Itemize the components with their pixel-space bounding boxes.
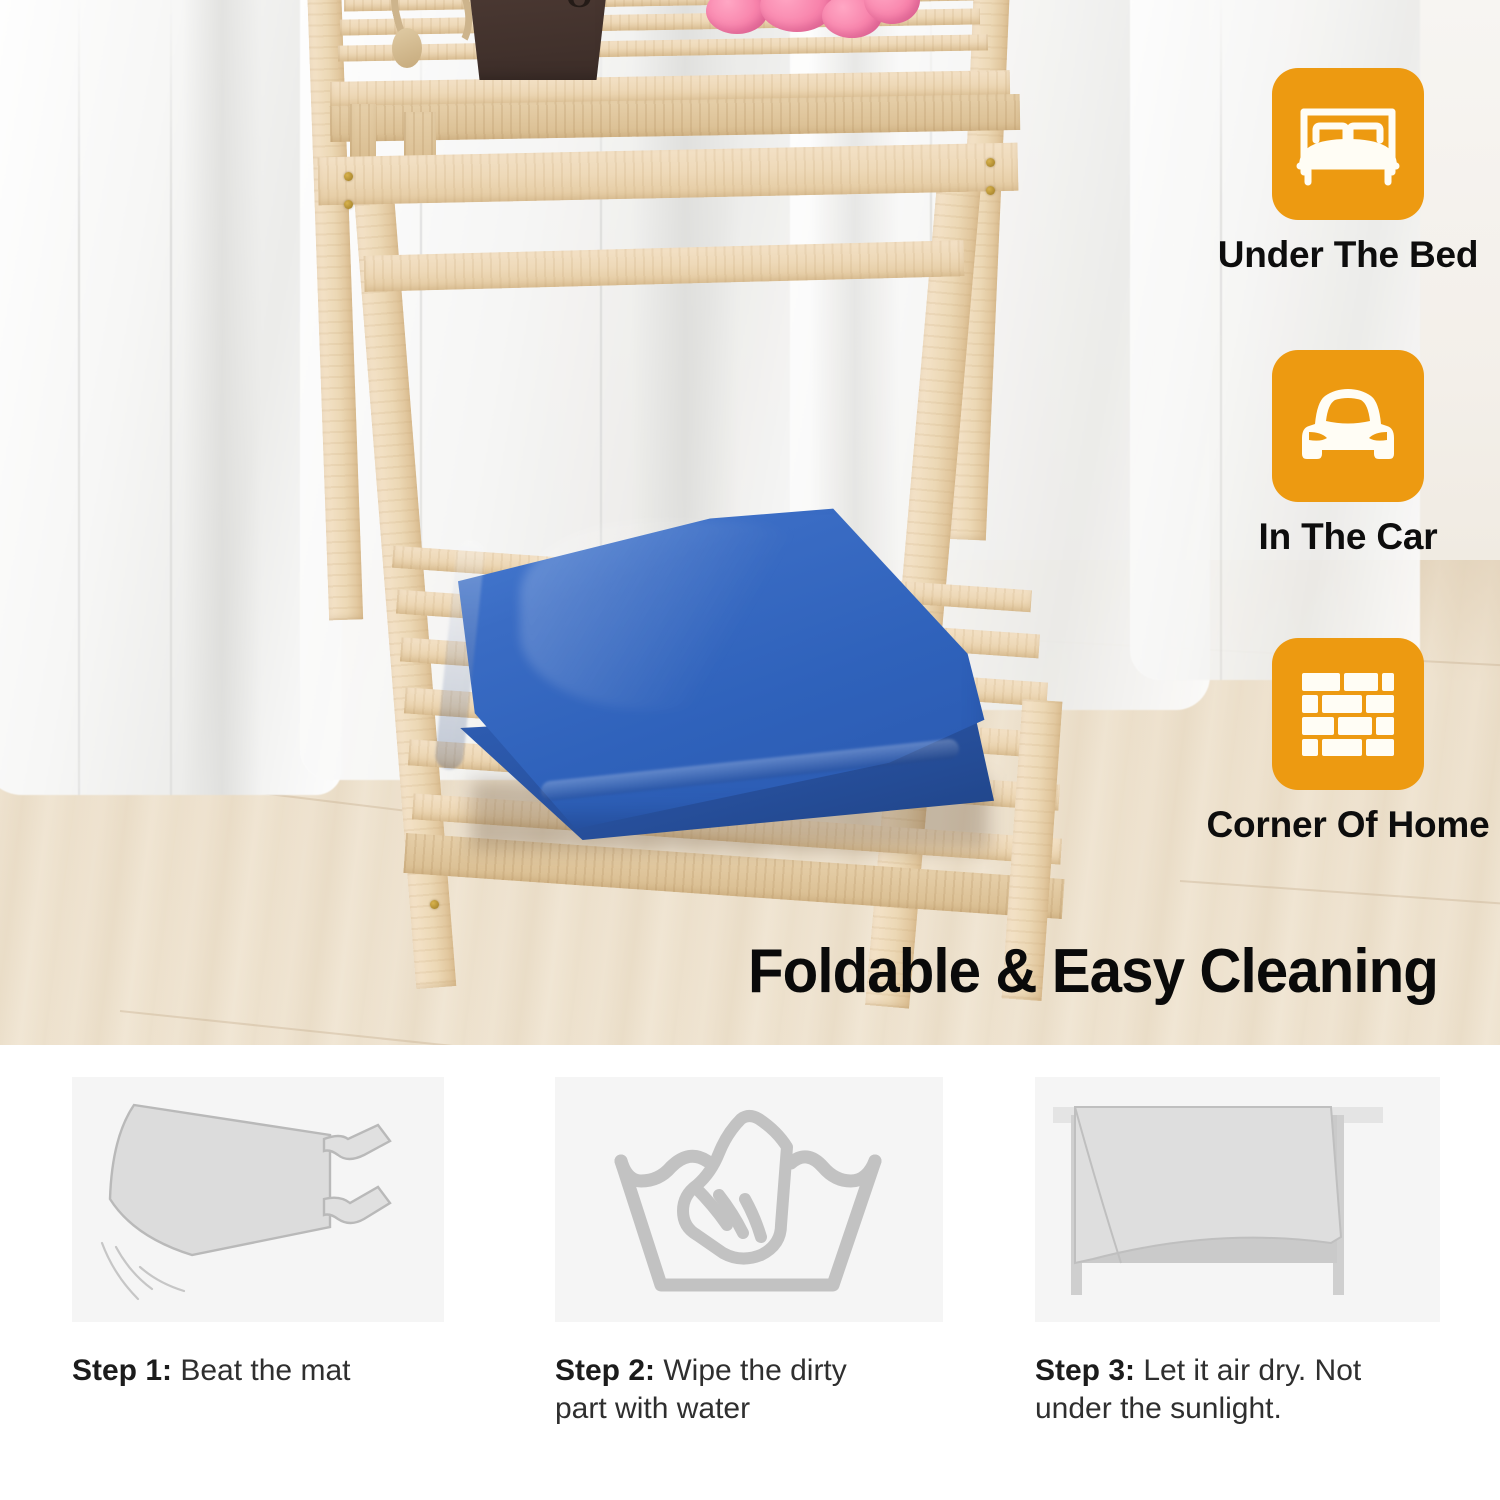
step-caption: Step 3: Let it air dry. Not under the su… (1035, 1352, 1395, 1429)
feature-under-the-bed: Under The Bed (1198, 68, 1498, 276)
top-shelf-bracket (350, 104, 376, 164)
step-2: Step 2: Wipe the dirty part with water (555, 1077, 943, 1429)
mat-on-drying-rack-icon (1035, 1077, 1440, 1322)
brick-wall-icon-tile (1272, 638, 1424, 790)
feature-label: In The Car (1198, 516, 1498, 558)
screw (344, 200, 353, 209)
step-label: Step 2: (555, 1354, 655, 1387)
step-caption: Step 1: Beat the mat (72, 1352, 444, 1390)
pot-rope-knob (392, 28, 422, 68)
screw (344, 172, 353, 181)
hand-wash-illustration (555, 1077, 943, 1322)
drying-rack-illustration (1035, 1077, 1440, 1322)
feature-corner-of-home: Corner Of Home (1198, 638, 1498, 846)
step-3: Step 3: Let it air dry. Not under the su… (1035, 1077, 1440, 1429)
car-icon (1295, 380, 1401, 472)
screw (430, 900, 439, 909)
feature-label: Under The Bed (1198, 234, 1498, 276)
step-text: Beat the mat (172, 1354, 350, 1387)
brick-wall-icon (1296, 667, 1400, 761)
curtain-panel (0, 0, 342, 795)
cleaning-steps-section: Step 1: Beat the mat Step 2: Wipe th (0, 1045, 1500, 1500)
bed-icon-tile (1272, 68, 1424, 220)
feature-in-the-car: In The Car (1198, 350, 1498, 558)
screw (986, 186, 995, 195)
hand-wash-basin-icon (555, 1077, 943, 1322)
product-photo: O Under Th (0, 0, 1500, 1045)
car-icon-tile (1272, 350, 1424, 502)
step-label: Step 1: (72, 1354, 172, 1387)
step-1: Step 1: Beat the mat (72, 1077, 444, 1390)
screw (986, 158, 995, 167)
step-label: Step 3: (1035, 1354, 1135, 1387)
shaking-mat-icon (72, 1077, 444, 1322)
bed-icon (1296, 100, 1400, 188)
step-caption: Step 2: Wipe the dirty part with water (555, 1352, 885, 1429)
page-headline: Foldable & Easy Cleaning (748, 936, 1438, 1007)
shaking-mat-illustration (72, 1077, 444, 1322)
feature-label: Corner Of Home (1198, 804, 1498, 846)
pot-label: O (566, 0, 592, 16)
mat-highlight (520, 520, 850, 710)
